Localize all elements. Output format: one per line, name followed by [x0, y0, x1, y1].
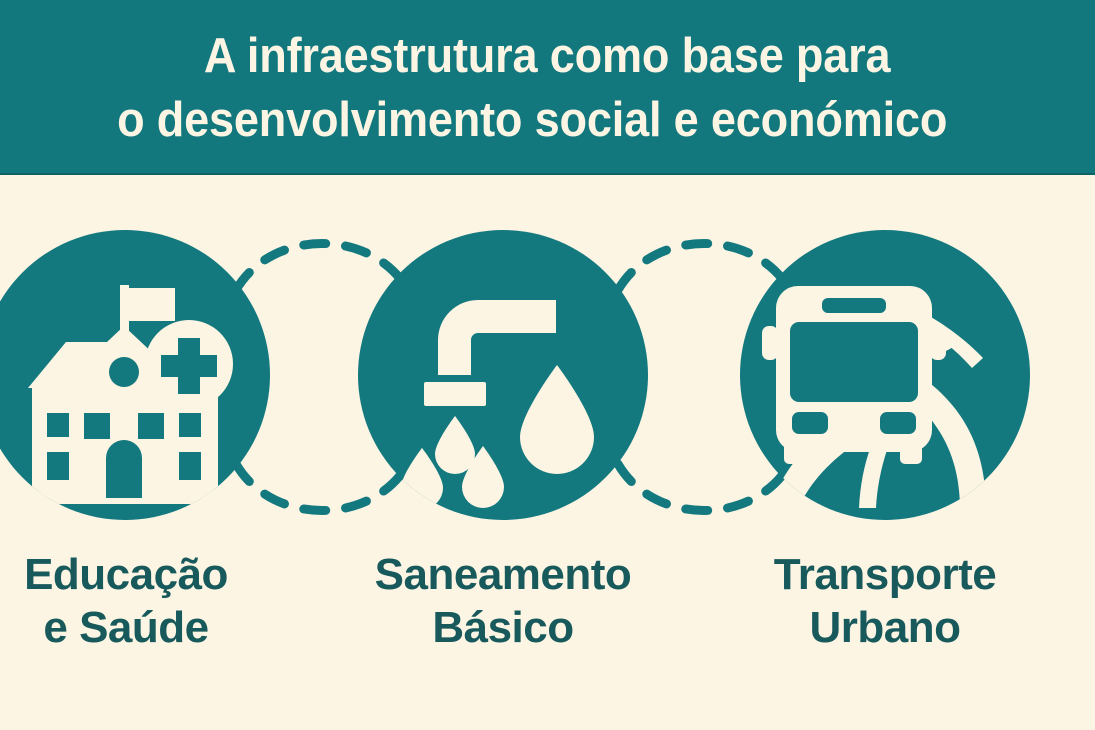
pillar-label-transporte-urbano: Transporte Urbano: [720, 548, 1050, 654]
header-band: A infraestrutura como base para o desenv…: [0, 0, 1095, 175]
title-line-1: A infraestrutura como base para: [204, 24, 891, 88]
infographic-poster: A infraestrutura como base para o desenv…: [0, 0, 1095, 730]
pillar-label-line-1: Transporte: [720, 548, 1050, 601]
bus-road-icon: [740, 230, 1030, 520]
pillar-label-line-2: Básico: [338, 601, 668, 654]
faucet-water-drops-icon: [358, 230, 648, 520]
pillar-circle-transporte-urbano[interactable]: [740, 230, 1030, 520]
pillar-label-line-1: Educação: [0, 548, 291, 601]
title-line-2: o desenvolvimento social e económico: [117, 88, 947, 152]
pillar-label-line-2: Urbano: [720, 601, 1050, 654]
school-hospital-icon: [0, 230, 270, 520]
pillar-circle-educacao-saude[interactable]: [0, 230, 270, 520]
page-title: A infraestrutura como base para o desenv…: [0, 0, 1095, 175]
pillar-label-saneamento-basico: Saneamento Básico: [338, 548, 668, 654]
pillar-label-line-1: Saneamento: [338, 548, 668, 601]
pillar-circle-saneamento-basico[interactable]: [358, 230, 648, 520]
pillar-label-line-2: e Saúde: [0, 601, 291, 654]
pillar-label-educacao-saude: Educação e Saúde: [0, 548, 291, 654]
